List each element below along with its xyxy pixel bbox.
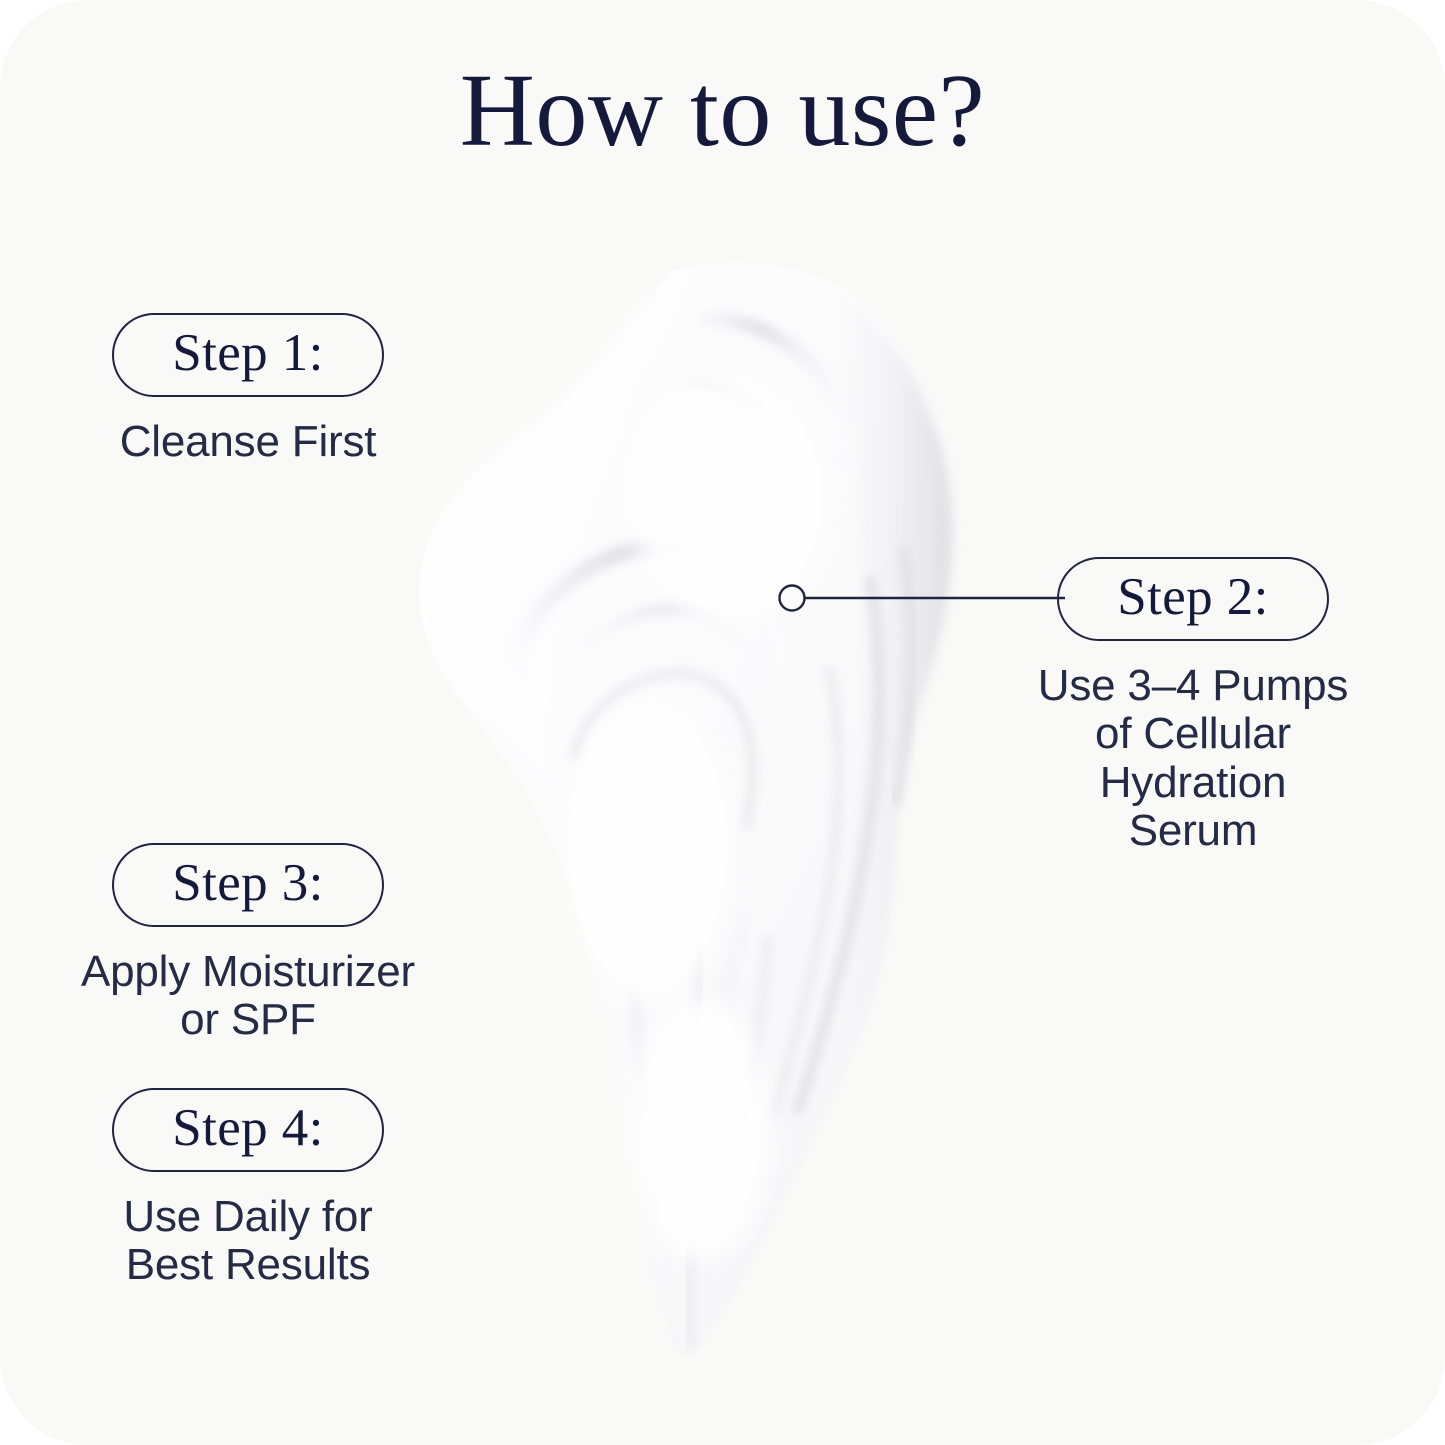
page-title: How to use? — [0, 55, 1445, 167]
step-2-block: Step 2: Use 3–4 Pumps of Cellular Hydrat… — [1057, 557, 1329, 856]
step-3-badge[interactable]: Step 3: — [112, 843, 384, 927]
step-4-block: Step 4: Use Daily for Best Results — [112, 1088, 384, 1290]
swatch-ridge-1 — [692, 319, 867, 612]
step-1-description: Cleanse First — [112, 418, 384, 466]
swatch-highlight-3 — [630, 1000, 770, 1260]
step-3-description: Apply Moisturizer or SPF — [72, 948, 424, 1045]
step-3-block: Step 3: Apply Moisturizer or SPF — [112, 843, 384, 1045]
swatch-streak-2 — [632, 940, 658, 1210]
swatch-ridge-4 — [540, 609, 774, 1010]
swatch-ridge-2 — [636, 382, 835, 664]
swatch-ridge-5 — [574, 673, 753, 826]
step-1-badge[interactable]: Step 1: — [112, 313, 384, 397]
step-2-connector — [775, 581, 1065, 617]
cream-swatch-image — [400, 250, 1020, 1360]
swatch-streak-1 — [689, 950, 700, 1342]
swatch-fold-right-2 — [774, 670, 839, 1116]
step-4-badge[interactable]: Step 4: — [112, 1088, 384, 1172]
swatch-lobe-left — [424, 280, 655, 798]
step-2-badge[interactable]: Step 2: — [1057, 557, 1329, 641]
swatch-highlight-2 — [568, 700, 732, 1000]
swatch-streak-3 — [730, 940, 768, 1206]
swatch-body — [419, 262, 952, 1356]
connector-circle-icon — [780, 586, 805, 611]
swatch-fold-right-1 — [798, 580, 879, 1110]
swatch-shade-right — [808, 290, 952, 1150]
step-4-description: Use Daily for Best Results — [98, 1193, 398, 1290]
swatch-ridge-3 — [508, 547, 788, 994]
step-2-description: Use 3–4 Pumps of Cellular Hydration Seru… — [997, 662, 1389, 856]
infographic-canvas: How to use? — [0, 0, 1445, 1445]
step-1-block: Step 1: Cleanse First — [112, 313, 384, 466]
card-background: How to use? — [0, 0, 1445, 1445]
